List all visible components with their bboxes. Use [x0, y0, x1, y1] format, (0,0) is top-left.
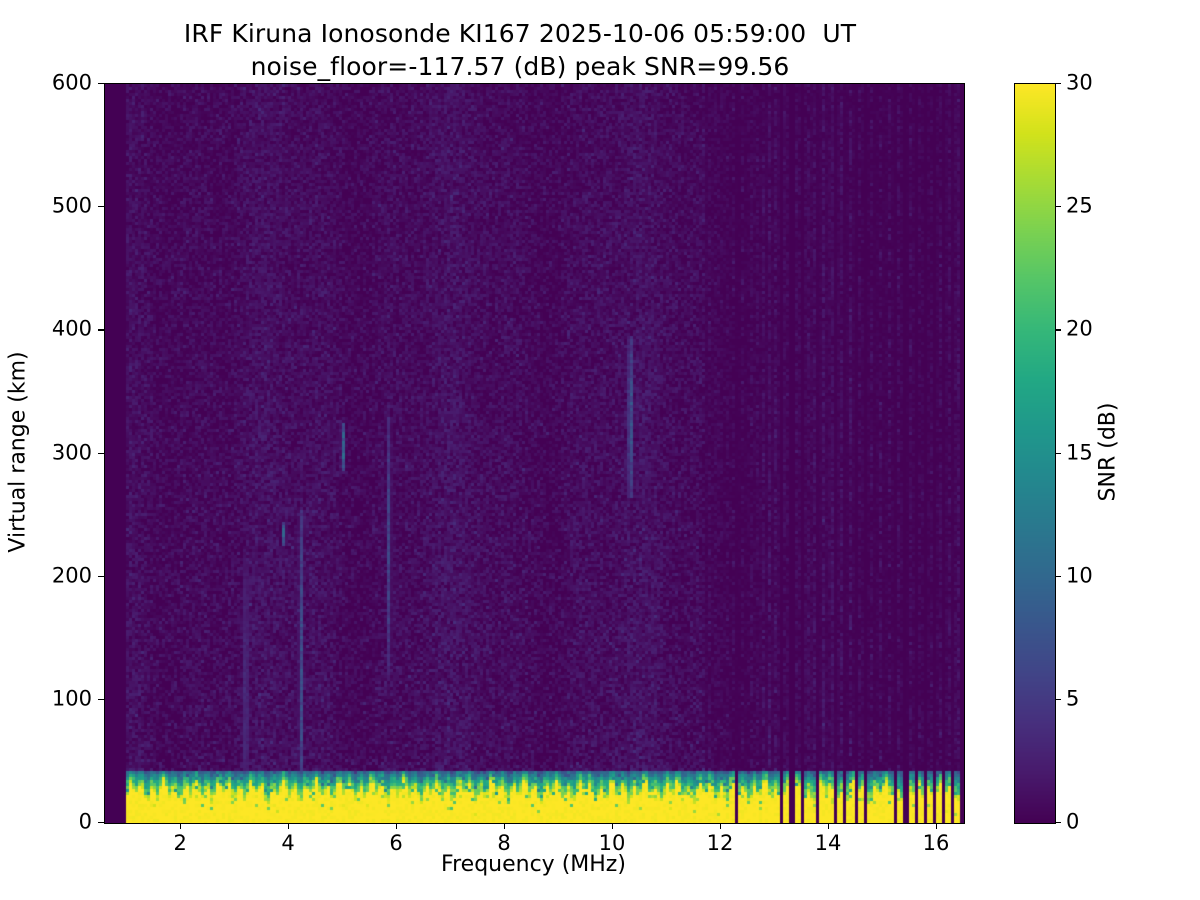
y-tick-label: 400 — [52, 319, 92, 340]
colorbar-gradient — [1015, 84, 1055, 823]
x-tick-label: 8 — [497, 833, 510, 854]
title-line-station-time: IRF Kiruna Ionosonde KI167 2025-10-06 05… — [0, 18, 1040, 51]
y-tick-mark — [98, 699, 104, 700]
x-tick-mark — [828, 823, 829, 829]
y-tick-mark — [98, 206, 104, 207]
ionogram-heatmap[interactable] — [105, 84, 964, 823]
y-tick-mark — [98, 83, 104, 84]
colorbar-tick-mark — [1055, 822, 1061, 823]
y-tick-label: 300 — [52, 442, 92, 463]
colorbar-tick-mark — [1055, 83, 1061, 84]
y-tick-label: 100 — [52, 688, 92, 709]
colorbar-tick-label: 30 — [1066, 73, 1093, 94]
colorbar-tick-label: 5 — [1066, 688, 1079, 709]
y-tick-label: 200 — [52, 565, 92, 586]
colorbar-tick-label: 15 — [1066, 442, 1093, 463]
y-axis-label: Virtual range (km) — [6, 351, 31, 552]
ionogram-plot-area[interactable] — [104, 83, 965, 824]
x-tick-mark — [720, 823, 721, 829]
x-tick-label: 4 — [281, 833, 294, 854]
title-line-noise-peak: noise_floor=-117.57 (dB) peak SNR=99.56 — [0, 51, 1040, 84]
y-tick-label: 0 — [79, 812, 92, 833]
y-tick-label: 500 — [52, 196, 92, 217]
colorbar-tick-mark — [1055, 699, 1061, 700]
colorbar-tick-label: 0 — [1066, 812, 1079, 833]
y-tick-mark — [98, 453, 104, 454]
x-tick-label: 6 — [389, 833, 402, 854]
x-tick-mark — [396, 823, 397, 829]
y-tick-mark — [98, 329, 104, 330]
x-tick-label: 2 — [173, 833, 186, 854]
colorbar-tick-mark — [1055, 576, 1061, 577]
colorbar[interactable] — [1014, 83, 1056, 824]
y-tick-mark — [98, 576, 104, 577]
ionogram-figure: IRF Kiruna Ionosonde KI167 2025-10-06 05… — [0, 0, 1200, 900]
x-tick-label: 10 — [599, 833, 626, 854]
colorbar-tick-label: 10 — [1066, 565, 1093, 586]
x-tick-label: 14 — [815, 833, 842, 854]
x-axis-label: Frequency (MHz) — [104, 852, 963, 877]
x-tick-label: 16 — [923, 833, 950, 854]
x-tick-mark — [936, 823, 937, 829]
colorbar-tick-mark — [1055, 206, 1061, 207]
colorbar-tick-label: 20 — [1066, 319, 1093, 340]
colorbar-label: SNR (dB) — [1096, 403, 1121, 502]
x-tick-mark — [288, 823, 289, 829]
x-tick-label: 12 — [707, 833, 734, 854]
colorbar-tick-label: 25 — [1066, 196, 1093, 217]
x-tick-mark — [612, 823, 613, 829]
y-tick-label: 600 — [52, 73, 92, 94]
x-tick-mark — [504, 823, 505, 829]
colorbar-tick-mark — [1055, 329, 1061, 330]
colorbar-tick-mark — [1055, 453, 1061, 454]
figure-title: IRF Kiruna Ionosonde KI167 2025-10-06 05… — [0, 18, 1040, 83]
x-tick-mark — [180, 823, 181, 829]
